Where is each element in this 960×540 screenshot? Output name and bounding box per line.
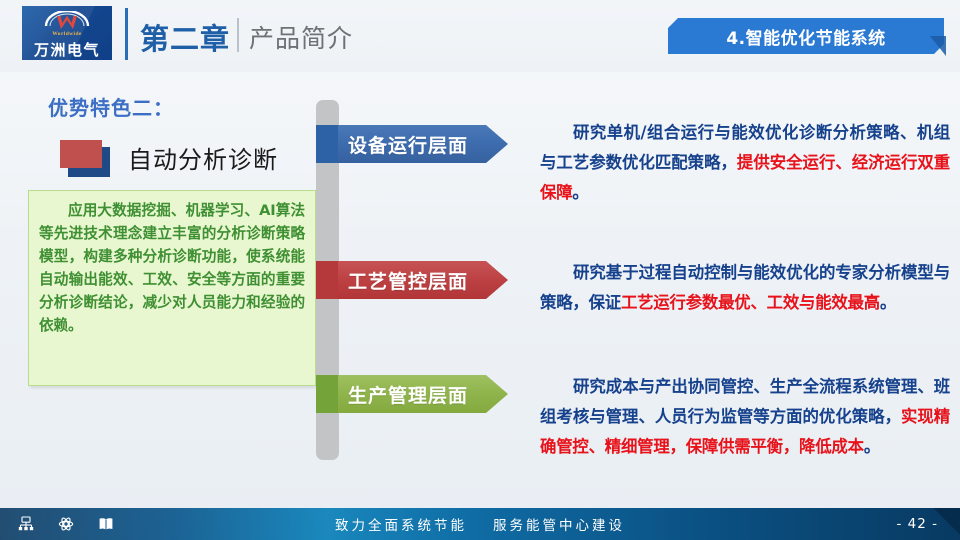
spine-segment-process (316, 261, 339, 299)
header-accent-line (125, 8, 128, 60)
layer-arrow-production[interactable]: 生产管理层面 (338, 375, 508, 413)
spine-segment-production (316, 375, 339, 413)
chapter-title: 第二章 (140, 16, 230, 58)
logo-english-text: Worldwide (22, 31, 112, 37)
layer-description-process: 研究基于过程自动控制与能效优化的专家分析模型与策略，保证工艺运行参数最优、工效与… (540, 258, 950, 318)
footer-slogan: 致力全面系统节能 服务能管中心建设 (0, 508, 960, 540)
footer-slogan-left: 致力全面系统节能 (335, 514, 467, 534)
highlighted-text-run: 工艺运行参数最优、工效与能效最高 (621, 293, 880, 312)
logo-chinese-text: 万洲电气 (22, 39, 112, 60)
chapter-separator (237, 18, 239, 52)
layer-arrow-label: 生产管理层面 (348, 381, 468, 408)
text-run: 。 (572, 183, 588, 202)
worldwide-w-logo-icon (22, 11, 112, 33)
square-bullet-icon (60, 140, 110, 174)
feature-bullet-row: 自动分析诊断 (60, 136, 278, 178)
slide-footer: 致力全面系统节能 服务能管中心建设 - 42 - (0, 508, 960, 540)
description-callout-text: 应用大数据挖掘、机器学习、AI算法等先进技术理念建立丰富的分析诊断策略模型，构建… (39, 199, 305, 337)
advantage-title: 优势特色二： (48, 92, 174, 121)
chapter-subtitle: 产品简介 (249, 19, 353, 55)
section-badge-label: 4.智能优化节能系统 (726, 24, 885, 49)
footer-corner-accent (926, 508, 960, 540)
text-run: 。 (880, 293, 896, 312)
spine-segment-equipment (316, 125, 339, 163)
slide-root: Worldwide 万洲电气 第二章 产品简介 4.智能优化节能系统 优势特色二… (0, 0, 960, 540)
layer-description-equipment: 研究单机/组合运行与能效优化诊断分析策略、机组与工艺参数优化匹配策略，提供安全运… (540, 118, 950, 208)
description-callout-box: 应用大数据挖掘、机器学习、AI算法等先进技术理念建立丰富的分析诊断策略模型，构建… (28, 190, 316, 386)
feature-bullet-label: 自动分析诊断 (128, 140, 278, 175)
text-run: 。 (864, 437, 880, 456)
layer-arrow-equipment[interactable]: 设备运行层面 (338, 125, 508, 163)
section-badge: 4.智能优化节能系统 (668, 18, 944, 54)
layer-description-production: 研究成本与产出协同管控、生产全流程系统管理、班组考核与管理、人员行为监管等方面的… (540, 372, 950, 462)
slide-header: Worldwide 万洲电气 第二章 产品简介 4.智能优化节能系统 (0, 0, 960, 72)
layer-arrow-process[interactable]: 工艺管控层面 (338, 261, 508, 299)
text-run: 研究成本与产出协同管控、生产全流程系统管理、班组考核与管理、人员行为监管等方面的… (540, 377, 950, 426)
footer-slogan-right: 服务能管中心建设 (493, 514, 625, 534)
layer-arrow-label: 设备运行层面 (348, 131, 468, 158)
layer-arrow-label: 工艺管控层面 (348, 267, 468, 294)
company-logo: Worldwide 万洲电气 (22, 6, 112, 60)
